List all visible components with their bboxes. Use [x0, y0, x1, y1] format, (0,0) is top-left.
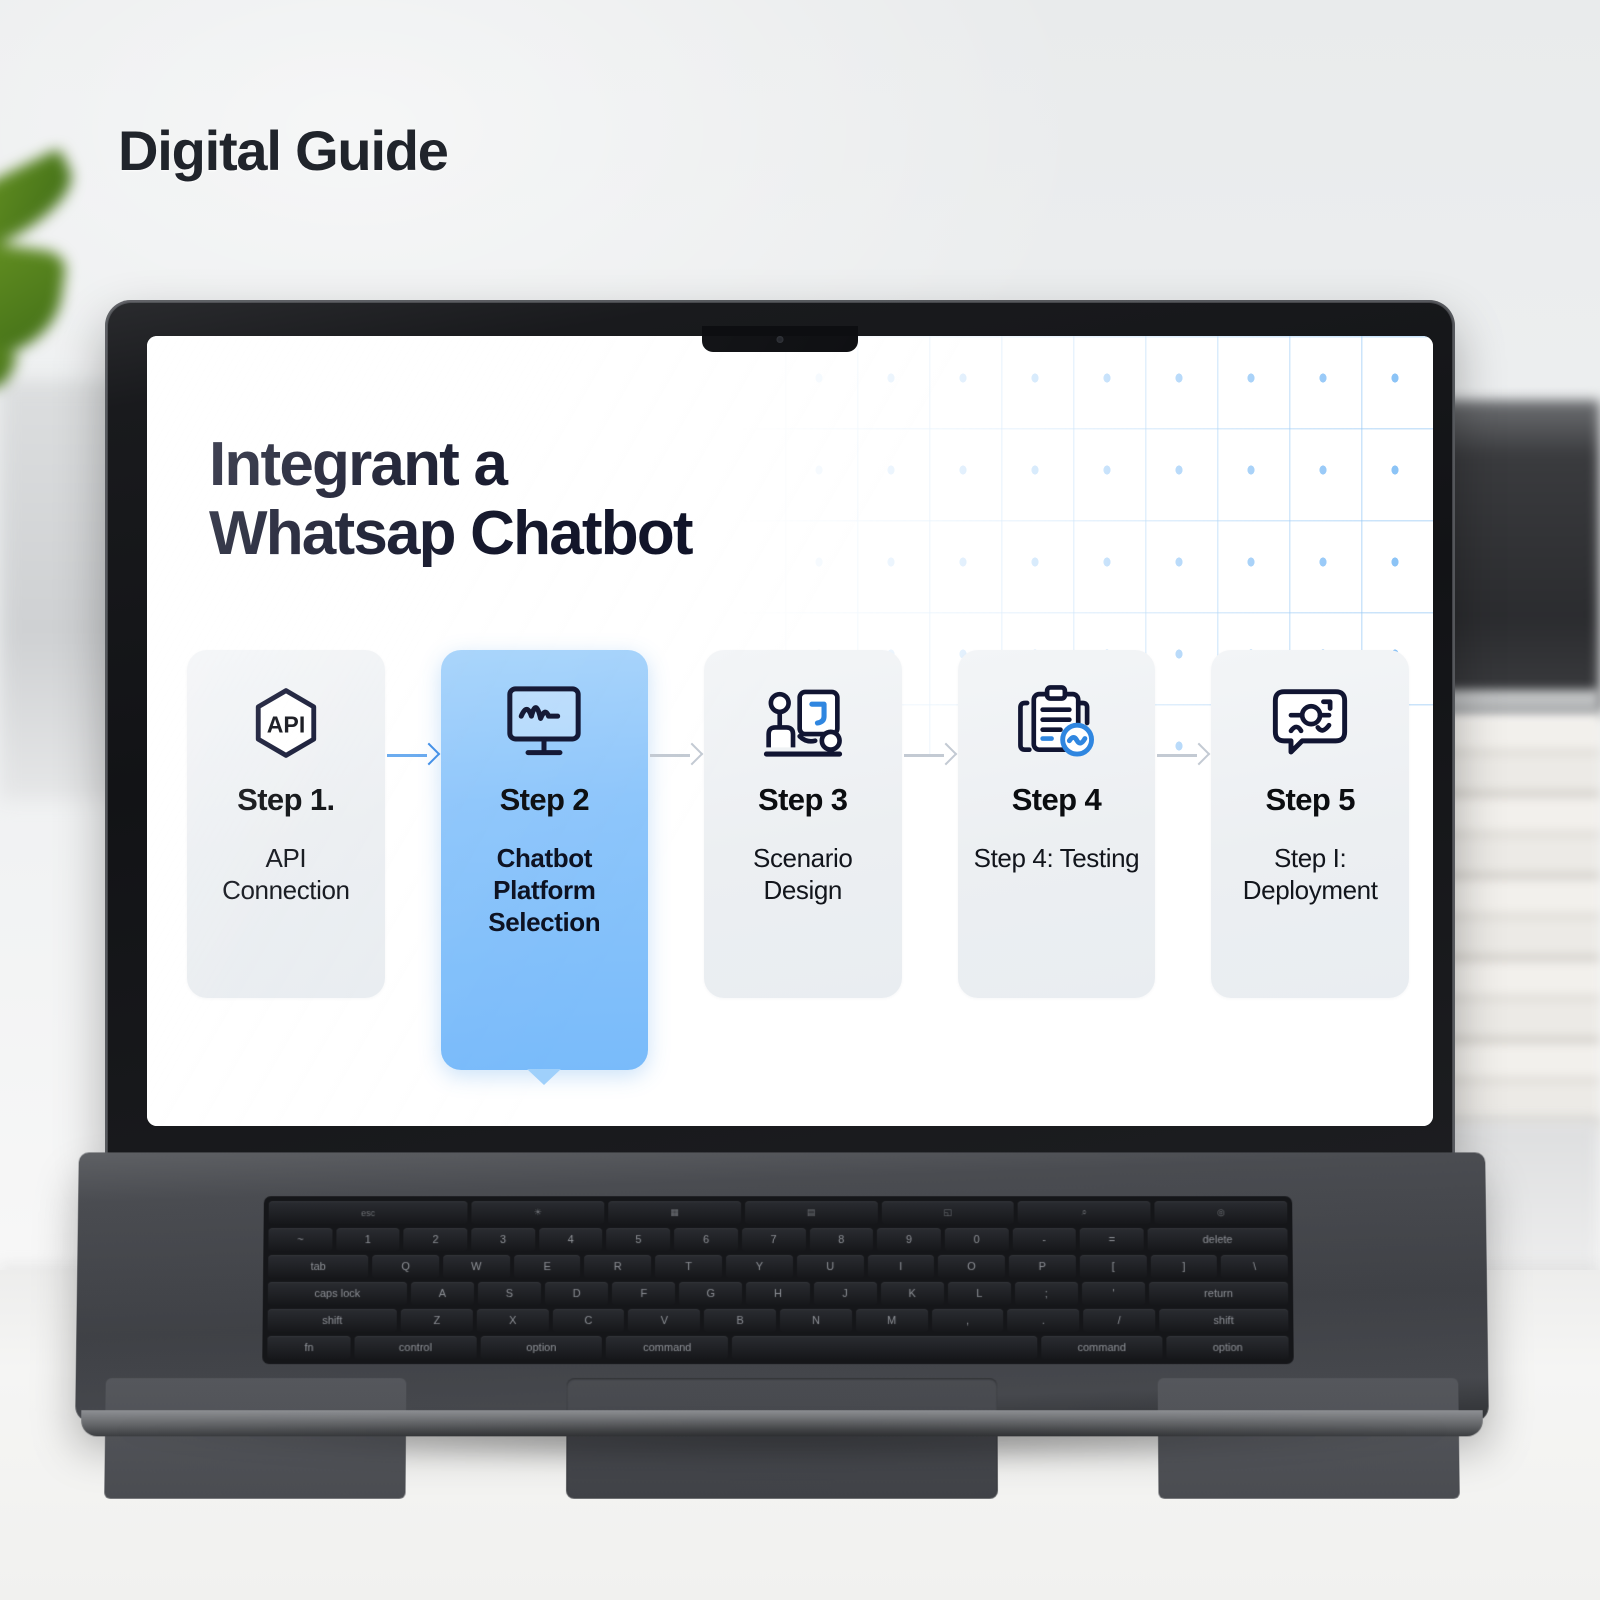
key--[interactable]: - [1012, 1228, 1076, 1251]
key-tab[interactable]: tab [268, 1255, 368, 1278]
connector-3-4 [902, 650, 958, 998]
step-description: API Connection [201, 842, 371, 906]
step-description: Chatbot Platform Selection [455, 842, 634, 939]
key-=[interactable]: = [1080, 1228, 1144, 1251]
key-1[interactable]: 1 [336, 1228, 400, 1251]
keyboard[interactable]: esc☀▦▤◱⌕◎ ~1234567890-=delete tabQWERTYU… [262, 1196, 1294, 1364]
connector-1-2 [385, 650, 441, 998]
key-c[interactable]: C [553, 1309, 625, 1332]
key-g[interactable]: G [679, 1282, 742, 1305]
key-h[interactable]: H [746, 1282, 809, 1305]
key-5[interactable]: 5 [607, 1228, 671, 1251]
step-description: Scenario Design [718, 842, 888, 906]
laptop-drop-shadow [115, 1426, 1450, 1466]
presentation-person-icon [718, 684, 888, 762]
step-label: Step 1. [201, 782, 371, 818]
key-r[interactable]: R [584, 1255, 651, 1278]
chat-network-icon [1225, 684, 1395, 762]
key-b[interactable]: B [704, 1309, 776, 1332]
key-shift[interactable]: shift [268, 1309, 397, 1332]
key-3[interactable]: 3 [471, 1228, 535, 1251]
key-v[interactable]: V [628, 1309, 700, 1332]
key-q[interactable]: Q [372, 1255, 439, 1278]
active-step-pointer-icon [527, 1069, 561, 1085]
key-7[interactable]: 7 [742, 1228, 806, 1251]
key-j[interactable]: J [814, 1282, 877, 1305]
key-2[interactable]: 2 [404, 1228, 468, 1251]
key-fn[interactable]: fn [267, 1336, 350, 1359]
key-▦[interactable]: ▦ [608, 1201, 741, 1224]
key-f[interactable]: F [612, 1282, 675, 1305]
key-u[interactable]: U [797, 1255, 864, 1278]
key-return[interactable]: return [1149, 1282, 1288, 1305]
key-~[interactable]: ~ [268, 1228, 332, 1251]
key-w[interactable]: W [443, 1255, 510, 1278]
key-d[interactable]: D [545, 1282, 608, 1305]
slide-title-line-1: Integrant a [209, 430, 692, 499]
arrow-right-head-icon [934, 743, 957, 766]
key-\[interactable]: \ [1221, 1255, 1288, 1278]
key-y[interactable]: Y [726, 1255, 793, 1278]
camera-icon [777, 336, 784, 343]
laptop-lid: Integrant a Whatsap Chatbot API [105, 300, 1455, 1160]
key-,[interactable]: , [932, 1309, 1004, 1332]
step-card-3[interactable]: Step 3 Scenario Design [704, 650, 902, 998]
step-card-5[interactable]: Step 5 Step I: Deployment [1211, 650, 1409, 998]
key-4[interactable]: 4 [539, 1228, 603, 1251]
key-n[interactable]: N [780, 1309, 852, 1332]
key-[[interactable]: [ [1080, 1255, 1147, 1278]
key-◎[interactable]: ◎ [1155, 1201, 1288, 1224]
key-t[interactable]: T [655, 1255, 722, 1278]
key-x[interactable]: X [477, 1309, 549, 1332]
key-z[interactable]: Z [401, 1309, 473, 1332]
key-e[interactable]: E [514, 1255, 581, 1278]
key-command[interactable]: command [1041, 1336, 1163, 1359]
keyboard-row-home[interactable]: caps lockASDFGHJKL;'return [268, 1282, 1288, 1305]
key-m[interactable]: M [856, 1309, 928, 1332]
key-◱[interactable]: ◱ [881, 1201, 1014, 1224]
key-control[interactable]: control [354, 1336, 476, 1359]
key-.[interactable]: . [1007, 1309, 1079, 1332]
api-hexagon-icon: API [201, 684, 371, 762]
key-p[interactable]: P [1009, 1255, 1076, 1278]
laptop-screen: Integrant a Whatsap Chatbot API [147, 336, 1433, 1126]
key-caps-lock[interactable]: caps lock [268, 1282, 407, 1305]
presentation-slide: Integrant a Whatsap Chatbot API [147, 336, 1433, 1126]
step-description: Step 4: Testing [972, 842, 1142, 874]
key-;[interactable]: ; [1015, 1282, 1078, 1305]
key-k[interactable]: K [881, 1282, 944, 1305]
page-title: Digital Guide [118, 118, 448, 183]
laptop-notch [702, 326, 858, 352]
step-label: Step 4 [972, 782, 1142, 818]
key-8[interactable]: 8 [809, 1228, 873, 1251]
step-card-1[interactable]: API Step 1. API Connection [187, 650, 385, 998]
clipboard-check-icon [972, 684, 1142, 762]
key-esc[interactable]: esc [269, 1201, 468, 1224]
keyboard-row-top[interactable]: tabQWERTYUIOP[]\ [268, 1255, 1288, 1278]
key-'[interactable]: ' [1082, 1282, 1145, 1305]
key-/[interactable]: / [1083, 1309, 1155, 1332]
key-9[interactable]: 9 [877, 1228, 941, 1251]
key-⌕[interactable]: ⌕ [1018, 1201, 1151, 1224]
key-option[interactable]: option [480, 1336, 602, 1359]
key-space[interactable] [732, 1336, 1037, 1359]
key-delete[interactable]: delete [1148, 1228, 1288, 1251]
key-o[interactable]: O [938, 1255, 1005, 1278]
key-][interactable]: ] [1150, 1255, 1217, 1278]
laptop-device: Integrant a Whatsap Chatbot API [95, 300, 1515, 1460]
svg-text:API: API [267, 711, 306, 737]
laptop-base: esc☀▦▤◱⌕◎ ~1234567890-=delete tabQWERTYU… [75, 1152, 1489, 1422]
connector-4-5 [1155, 650, 1211, 998]
arrow-right-head-icon [681, 743, 704, 766]
keyboard-row-function[interactable]: esc☀▦▤◱⌕◎ [269, 1201, 1288, 1224]
keyboard-row-bottom[interactable]: shiftZXCVBNM,./shift [268, 1309, 1289, 1332]
key-shift[interactable]: shift [1159, 1309, 1288, 1332]
step-label: Step 2 [455, 782, 634, 818]
key-option[interactable]: option [1167, 1336, 1289, 1359]
step-label: Step 5 [1225, 782, 1395, 818]
step-label: Step 3 [718, 782, 888, 818]
key-a[interactable]: A [411, 1282, 474, 1305]
step-card-2[interactable]: Step 2 Chatbot Platform Selection [441, 650, 648, 1070]
key-command[interactable]: command [606, 1336, 728, 1359]
key-l[interactable]: L [948, 1282, 1011, 1305]
key-☀[interactable]: ☀ [472, 1201, 605, 1224]
monitor-pulse-icon [455, 684, 634, 762]
keyboard-row-numbers[interactable]: ~1234567890-=delete [268, 1228, 1287, 1251]
key-6[interactable]: 6 [674, 1228, 738, 1251]
arrow-right-head-icon [417, 743, 440, 766]
steps-row: API Step 1. API Connection [187, 650, 1409, 1070]
leaf-icon [0, 231, 68, 372]
step-description: Step I: Deployment [1225, 842, 1395, 906]
connector-2-3 [648, 650, 704, 998]
slide-title: Integrant a Whatsap Chatbot [209, 430, 692, 569]
keyboard-row-space[interactable]: fncontroloptioncommandcommandoption [267, 1336, 1288, 1359]
photo-scene: Digital Guide Integrant a Whatsap Chatbo… [0, 0, 1600, 1600]
key-0[interactable]: 0 [945, 1228, 1009, 1251]
arrow-right-head-icon [1188, 743, 1211, 766]
key-s[interactable]: S [478, 1282, 541, 1305]
key-▤[interactable]: ▤ [745, 1201, 878, 1224]
slide-title-line-2: Whatsap Chatbot [209, 499, 692, 568]
key-i[interactable]: I [867, 1255, 934, 1278]
step-card-4[interactable]: Step 4 Step 4: Testing [958, 650, 1156, 998]
